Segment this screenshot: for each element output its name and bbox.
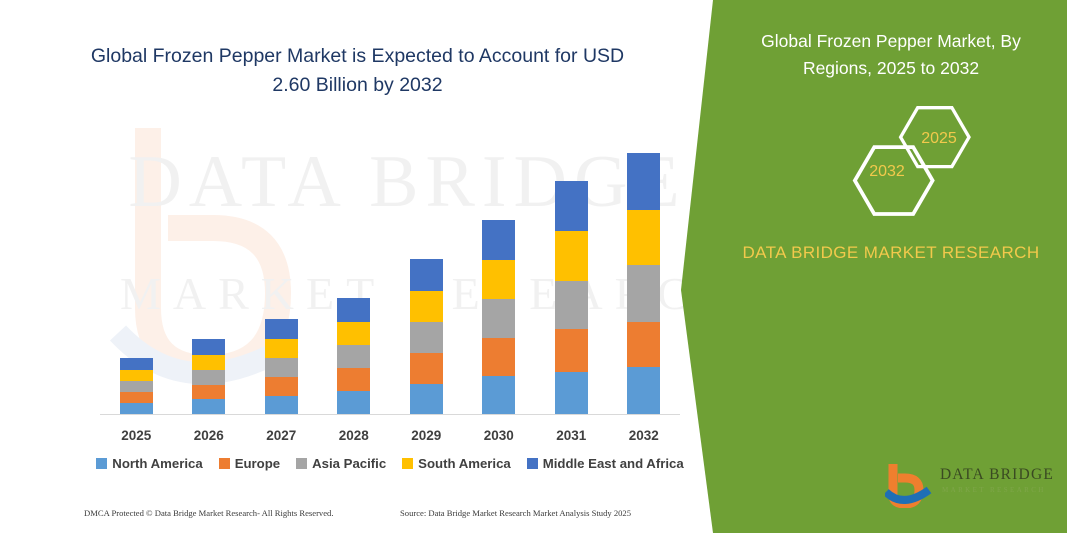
chart-legend: North AmericaEuropeAsia PacificSouth Ame… — [90, 456, 690, 471]
legend-label: North America — [112, 456, 202, 471]
x-axis-label: 2032 — [614, 415, 674, 443]
legend-label: Europe — [235, 456, 280, 471]
legend-swatch-icon — [219, 458, 230, 469]
bar-segment — [627, 153, 660, 210]
chart-panel: DATA BRIDGE MARKET RESEARCH Global Froze… — [0, 0, 715, 533]
bar-segment — [555, 372, 588, 414]
bar-segment — [627, 367, 660, 414]
bar-column — [614, 153, 674, 414]
data-bridge-logo: DATA BRIDGE MARKET RESEARCH — [885, 462, 1065, 510]
bar-segment — [482, 260, 515, 299]
bar-column — [396, 259, 456, 414]
bar-column — [179, 339, 239, 414]
bar-segment — [555, 329, 588, 372]
bar-column — [469, 220, 529, 414]
legend-item[interactable]: South America — [402, 456, 511, 471]
x-axis-labels: 20252026202720282029203020312032 — [100, 415, 680, 443]
infographic-canvas: DATA BRIDGE MARKET RESEARCH Global Froze… — [0, 0, 1067, 533]
x-axis-label: 2029 — [396, 415, 456, 443]
legend-swatch-icon — [296, 458, 307, 469]
bar-segment — [265, 396, 298, 414]
bar-group — [100, 120, 680, 414]
bar-segment — [555, 231, 588, 281]
legend-label: Middle East and Africa — [543, 456, 684, 471]
bar-segment — [337, 322, 370, 345]
bar-segment — [265, 339, 298, 358]
bar-column — [106, 358, 166, 414]
footer-copyright: DMCA Protected © Data Bridge Market Rese… — [84, 508, 334, 518]
bar-segment — [120, 403, 153, 414]
brand-name: DATA BRIDGE MARKET RESEARCH — [741, 238, 1041, 268]
x-axis-label: 2025 — [106, 415, 166, 443]
bar-segment — [555, 181, 588, 231]
x-axis-label: 2026 — [179, 415, 239, 443]
legend-swatch-icon — [96, 458, 107, 469]
bar-segment — [410, 384, 443, 414]
bar-column — [251, 319, 311, 414]
bar-segment — [410, 322, 443, 353]
bar-segment — [337, 368, 370, 391]
page-title: Global Frozen Pepper Market is Expected … — [70, 42, 645, 100]
right-panel-title: Global Frozen Pepper Market, By Regions,… — [735, 28, 1047, 82]
hexagon-2025-label: 2025 — [899, 130, 979, 148]
bar-column — [324, 298, 384, 414]
bar-segment — [337, 391, 370, 414]
bar-segment — [265, 319, 298, 339]
bar-segment — [192, 385, 225, 399]
right-panel: Global Frozen Pepper Market, By Regions,… — [715, 0, 1067, 533]
logo-mark-icon — [885, 462, 937, 508]
x-axis-label: 2031 — [541, 415, 601, 443]
logo-wordmark: DATA BRIDGE — [940, 466, 1054, 484]
bar-segment — [482, 338, 515, 376]
bar-segment — [120, 370, 153, 381]
bar-segment — [265, 377, 298, 396]
legend-item[interactable]: Middle East and Africa — [527, 456, 684, 471]
bar-segment — [120, 392, 153, 403]
hexagon-2032-label: 2032 — [847, 163, 927, 181]
logo-tagline: MARKET RESEARCH — [942, 486, 1046, 494]
x-axis-label: 2028 — [324, 415, 384, 443]
legend-item[interactable]: North America — [96, 456, 202, 471]
legend-item[interactable]: Europe — [219, 456, 280, 471]
bar-segment — [337, 345, 370, 368]
bar-segment — [192, 370, 225, 385]
bar-segment — [627, 322, 660, 367]
bar-column — [541, 181, 601, 414]
bar-segment — [337, 298, 370, 322]
bar-segment — [410, 353, 443, 384]
bar-segment — [192, 355, 225, 370]
bar-segment — [627, 210, 660, 265]
bar-segment — [555, 281, 588, 329]
legend-swatch-icon — [402, 458, 413, 469]
legend-label: Asia Pacific — [312, 456, 386, 471]
bar-segment — [482, 299, 515, 338]
legend-item[interactable]: Asia Pacific — [296, 456, 386, 471]
footer-source: Source: Data Bridge Market Research Mark… — [400, 508, 631, 518]
x-axis-label: 2030 — [469, 415, 529, 443]
legend-label: South America — [418, 456, 511, 471]
bar-segment — [410, 259, 443, 291]
bar-segment — [627, 265, 660, 322]
bar-segment — [482, 376, 515, 414]
bar-segment — [192, 339, 225, 355]
bar-segment — [410, 291, 443, 322]
bar-segment — [120, 358, 153, 370]
x-axis-label: 2027 — [251, 415, 311, 443]
bar-segment — [265, 358, 298, 377]
bar-segment — [192, 399, 225, 414]
legend-swatch-icon — [527, 458, 538, 469]
bar-segment — [482, 220, 515, 260]
bar-segment — [120, 381, 153, 392]
bar-chart: 20252026202720282029203020312032 — [100, 120, 680, 415]
